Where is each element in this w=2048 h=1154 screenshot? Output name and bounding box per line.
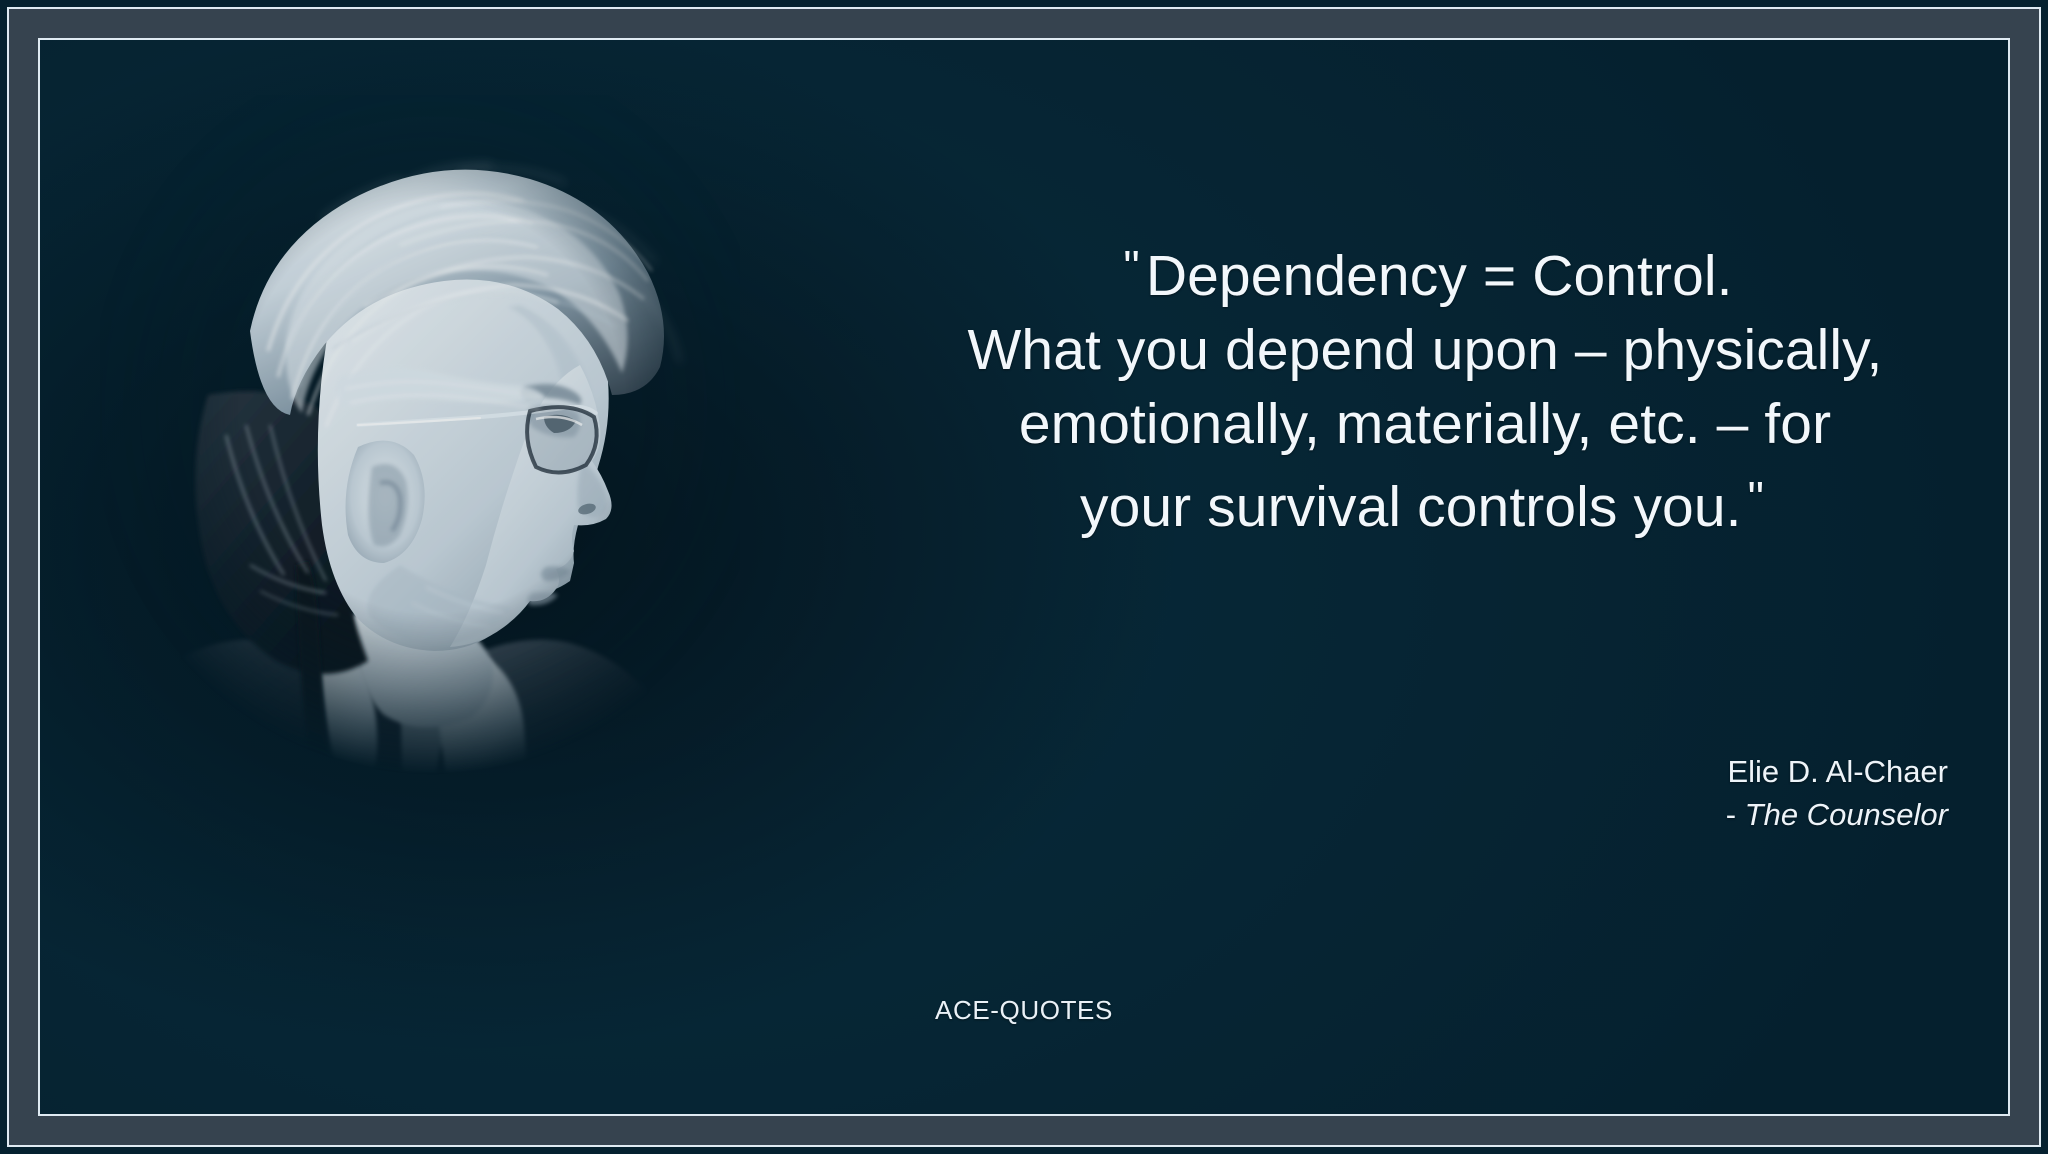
portrait-container — [100, 95, 740, 775]
quote-source: - The Counselor — [880, 793, 1948, 836]
attribution-block: Elie D. Al-Chaer - The Counselor — [880, 750, 1970, 836]
quote-line-1-text: Dependency = Control. — [1146, 244, 1733, 308]
inner-frame-panel: "Dependency = Control. What you depend u… — [38, 38, 2010, 1116]
quote-source-prefix: - — [1726, 797, 1745, 832]
portrait-photo — [100, 95, 740, 775]
quote-source-title: The Counselor — [1745, 797, 1948, 832]
quote-line-3: emotionally, materially, etc. – for — [880, 387, 1970, 461]
quote-card: "Dependency = Control. What you depend u… — [0, 0, 2048, 1154]
quote-text-block: "Dependency = Control. What you depend u… — [880, 230, 1970, 544]
quote-line-4-text: your survival controls you. — [1080, 475, 1742, 539]
closing-quote-mark: " — [1742, 472, 1770, 524]
quote-author: Elie D. Al-Chaer — [880, 750, 1948, 793]
quote-line-2: What you depend upon – physically, — [880, 313, 1970, 387]
opening-quote-mark: " — [1117, 241, 1145, 293]
brand-watermark: ACE-QUOTES — [935, 995, 1113, 1025]
footer: ACE-QUOTES — [40, 995, 2008, 1026]
quote-line-1: "Dependency = Control. — [880, 230, 1970, 313]
quote-line-4: your survival controls you." — [880, 461, 1970, 544]
